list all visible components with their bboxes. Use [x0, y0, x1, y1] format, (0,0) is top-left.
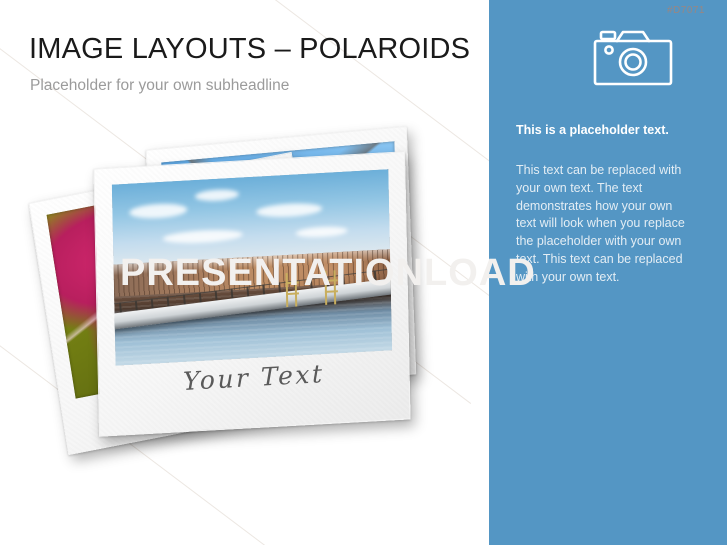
panel-heading: This is a placeholder text. [516, 122, 691, 138]
polaroid-front-photo[interactable] [112, 169, 392, 366]
slide-canvas: IMAGE LAYOUTS – POLAROIDS Placeholder fo… [0, 0, 727, 545]
pier-ladder [285, 272, 297, 307]
pier-ladder [324, 270, 336, 305]
panel-body-text: This text can be replaced with your own … [516, 162, 686, 286]
right-info-panel: #D7071 This is a placeholder text. This … [489, 0, 727, 545]
polaroid-stack: Your Text [0, 0, 489, 545]
camera-icon [593, 28, 673, 86]
polaroid-front[interactable]: Your Text [93, 151, 410, 437]
slide-code-label: #D7071 [667, 5, 705, 16]
